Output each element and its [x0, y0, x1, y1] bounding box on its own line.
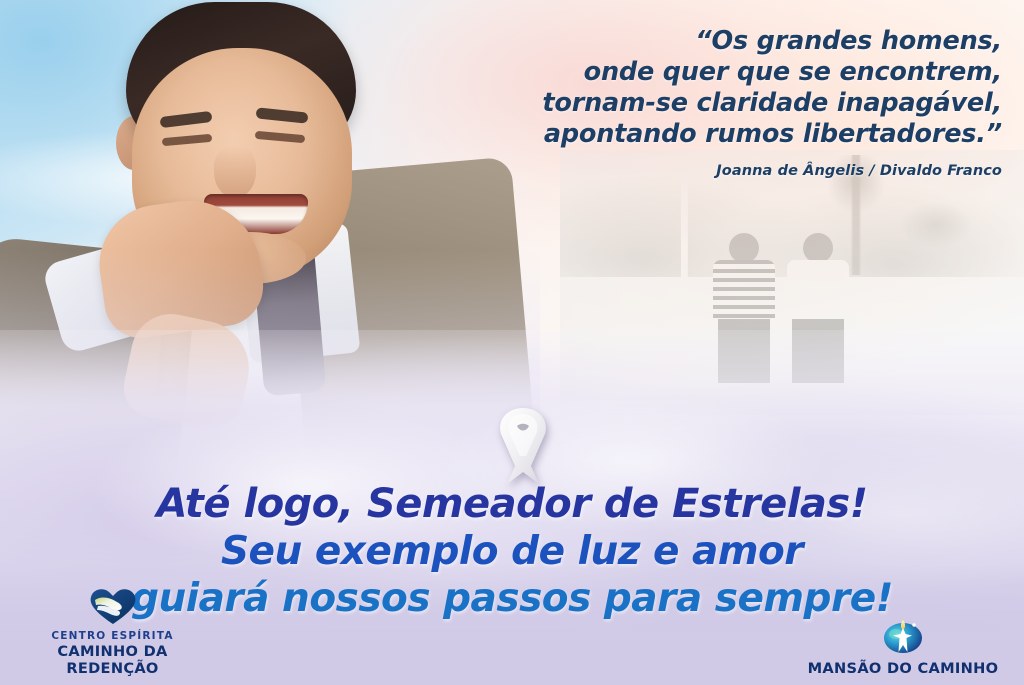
quote-line-2: onde quer que se encontrem, [462, 57, 1002, 88]
portrait-nose [214, 146, 256, 198]
quote-attribution: Joanna de Ângelis / Divaldo Franco [462, 163, 1002, 179]
headline-line-2: Seu exemplo de luz e amor [0, 532, 1024, 571]
globe-figure-flame-icon [879, 612, 927, 656]
quote-line-1: “Os grandes homens, [462, 26, 1002, 57]
quote-block: “Os grandes homens, onde quer que se enc… [462, 26, 1002, 179]
logo-left-line-1: CENTRO ESPÍRITA [10, 630, 215, 643]
logo-mansao-do-caminho: MANSÃO DO CAMINHO [788, 612, 1018, 677]
heart-hands-icon [87, 586, 139, 626]
logo-centro-espirita: CENTRO ESPÍRITA CAMINHO DA REDENÇÃO [10, 586, 215, 677]
photo-palm [876, 192, 996, 302]
logo-left-line-2: CAMINHO DA REDENÇÃO [10, 643, 215, 677]
photo-torso [713, 260, 775, 322]
headline-line-1: Até logo, Semeador de Estrelas! [0, 484, 1024, 524]
photo-torso [787, 260, 849, 322]
quote-line-3: tornam-se claridade inapagável, [462, 88, 1002, 119]
tribute-poster: “Os grandes homens, onde quer que se enc… [0, 0, 1024, 685]
logo-right-line-1: MANSÃO DO CAMINHO [788, 660, 1018, 677]
photo-head [803, 233, 833, 263]
white-mourning-ribbon-icon [487, 404, 559, 488]
quote-line-4: apontando rumos libertadores.” [462, 119, 1002, 150]
photo-head [729, 233, 759, 263]
